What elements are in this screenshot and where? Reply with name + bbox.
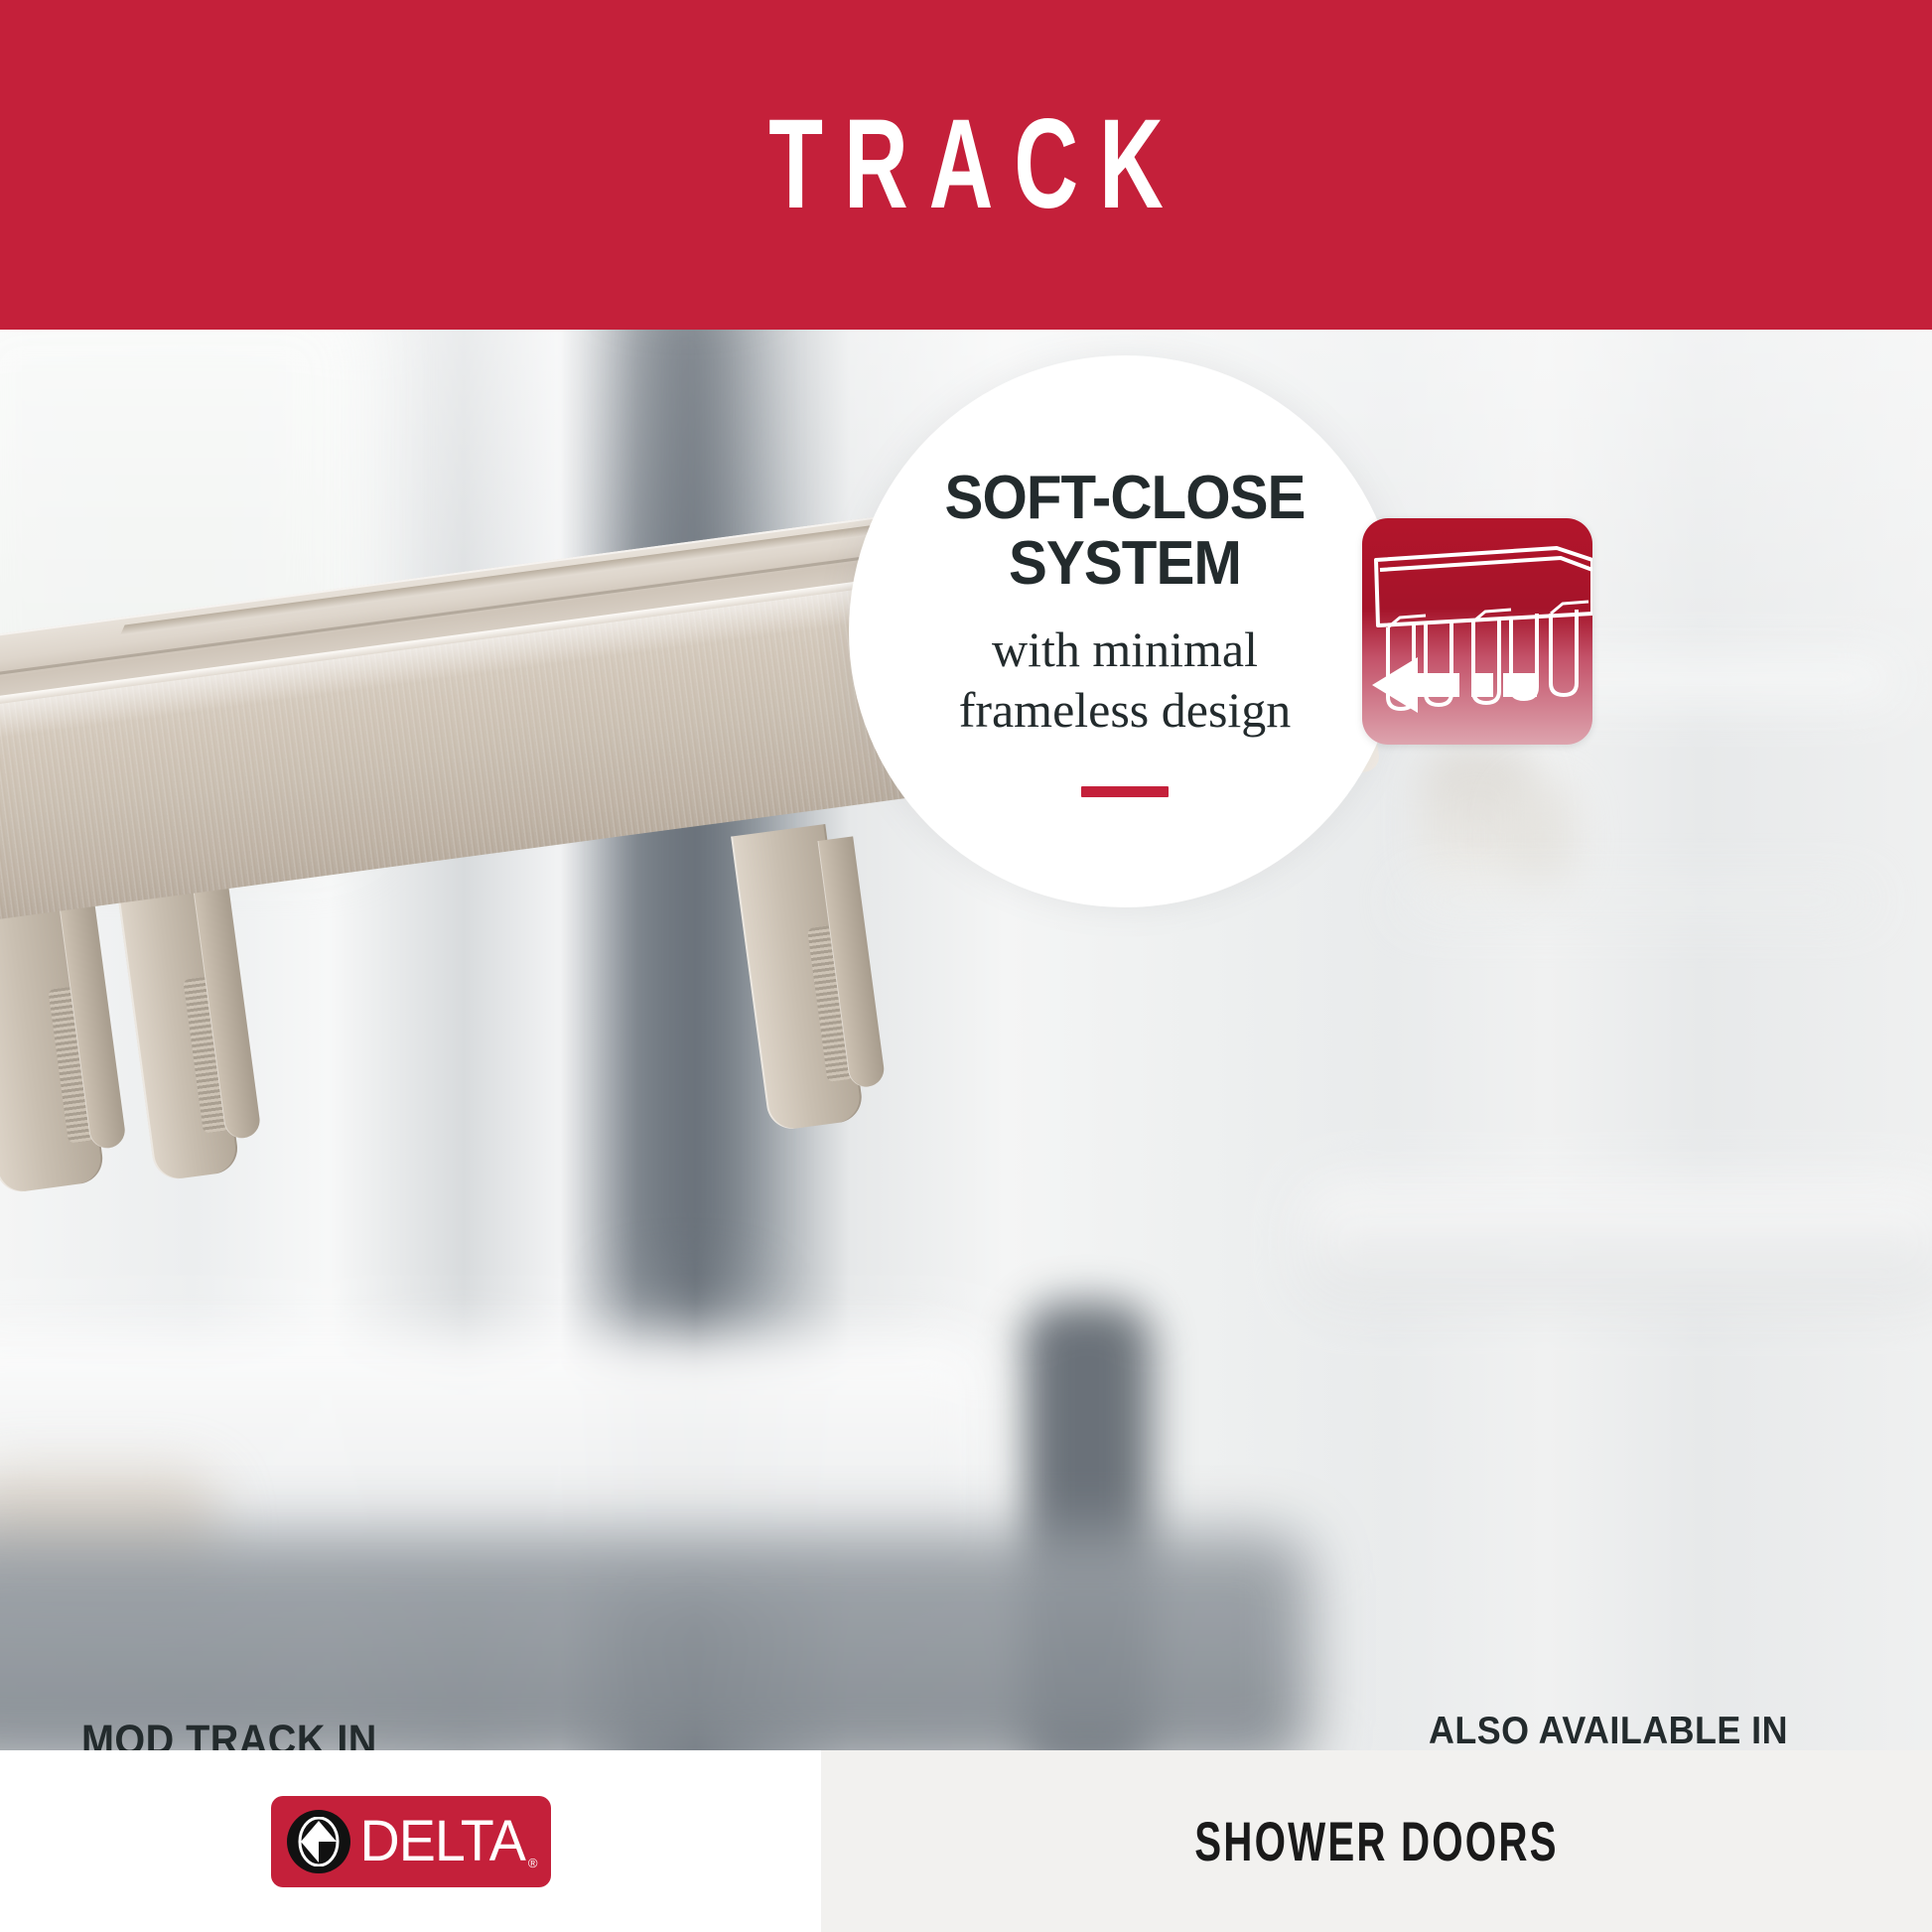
roller-bracket: [731, 824, 865, 1132]
badge-title: SOFT-CLOSE SYSTEM: [924, 466, 1325, 596]
background-bottles-secondary: [1509, 781, 1579, 896]
marketing-sheet: TRACK: [0, 0, 1932, 1932]
header-banner: TRACK: [0, 0, 1932, 330]
registered-trademark-icon: ®: [528, 1856, 538, 1870]
roller-bracket: [0, 886, 105, 1195]
background-shelf-lower: [1405, 886, 1871, 915]
badge-subtitle: with minimal frameless design: [916, 620, 1333, 741]
product-caption: MOD TRACK IN BRUSHED NICKEL: [81, 1715, 465, 1750]
roller-bracket: [116, 876, 240, 1182]
feature-badge: SOFT-CLOSE SYSTEM with minimal frameless…: [849, 355, 1401, 907]
footer-brand-area: DELTA ®: [0, 1750, 821, 1932]
badge-divider: [1081, 786, 1169, 797]
page-title: TRACK: [290, 0, 1642, 330]
footer-bar: DELTA ® SHOWER DOORS: [0, 1750, 1932, 1932]
soft-close-track-icon: [1362, 518, 1592, 745]
footer-tagline-area: SHOWER DOORS: [821, 1750, 1932, 1932]
delta-wordmark: DELTA: [359, 1813, 524, 1870]
caption-line-1: MOD TRACK IN: [81, 1715, 465, 1750]
delta-triangle-icon: [287, 1810, 350, 1873]
delta-logo[interactable]: DELTA ®: [271, 1796, 551, 1887]
footer-tagline: SHOWER DOORS: [1194, 1809, 1558, 1873]
finishes-heading: ALSO AVAILABLE IN: [1426, 1710, 1791, 1750]
available-finishes: ALSO AVAILABLE IN CHROME MATTE BLACK: [1410, 1710, 1807, 1750]
